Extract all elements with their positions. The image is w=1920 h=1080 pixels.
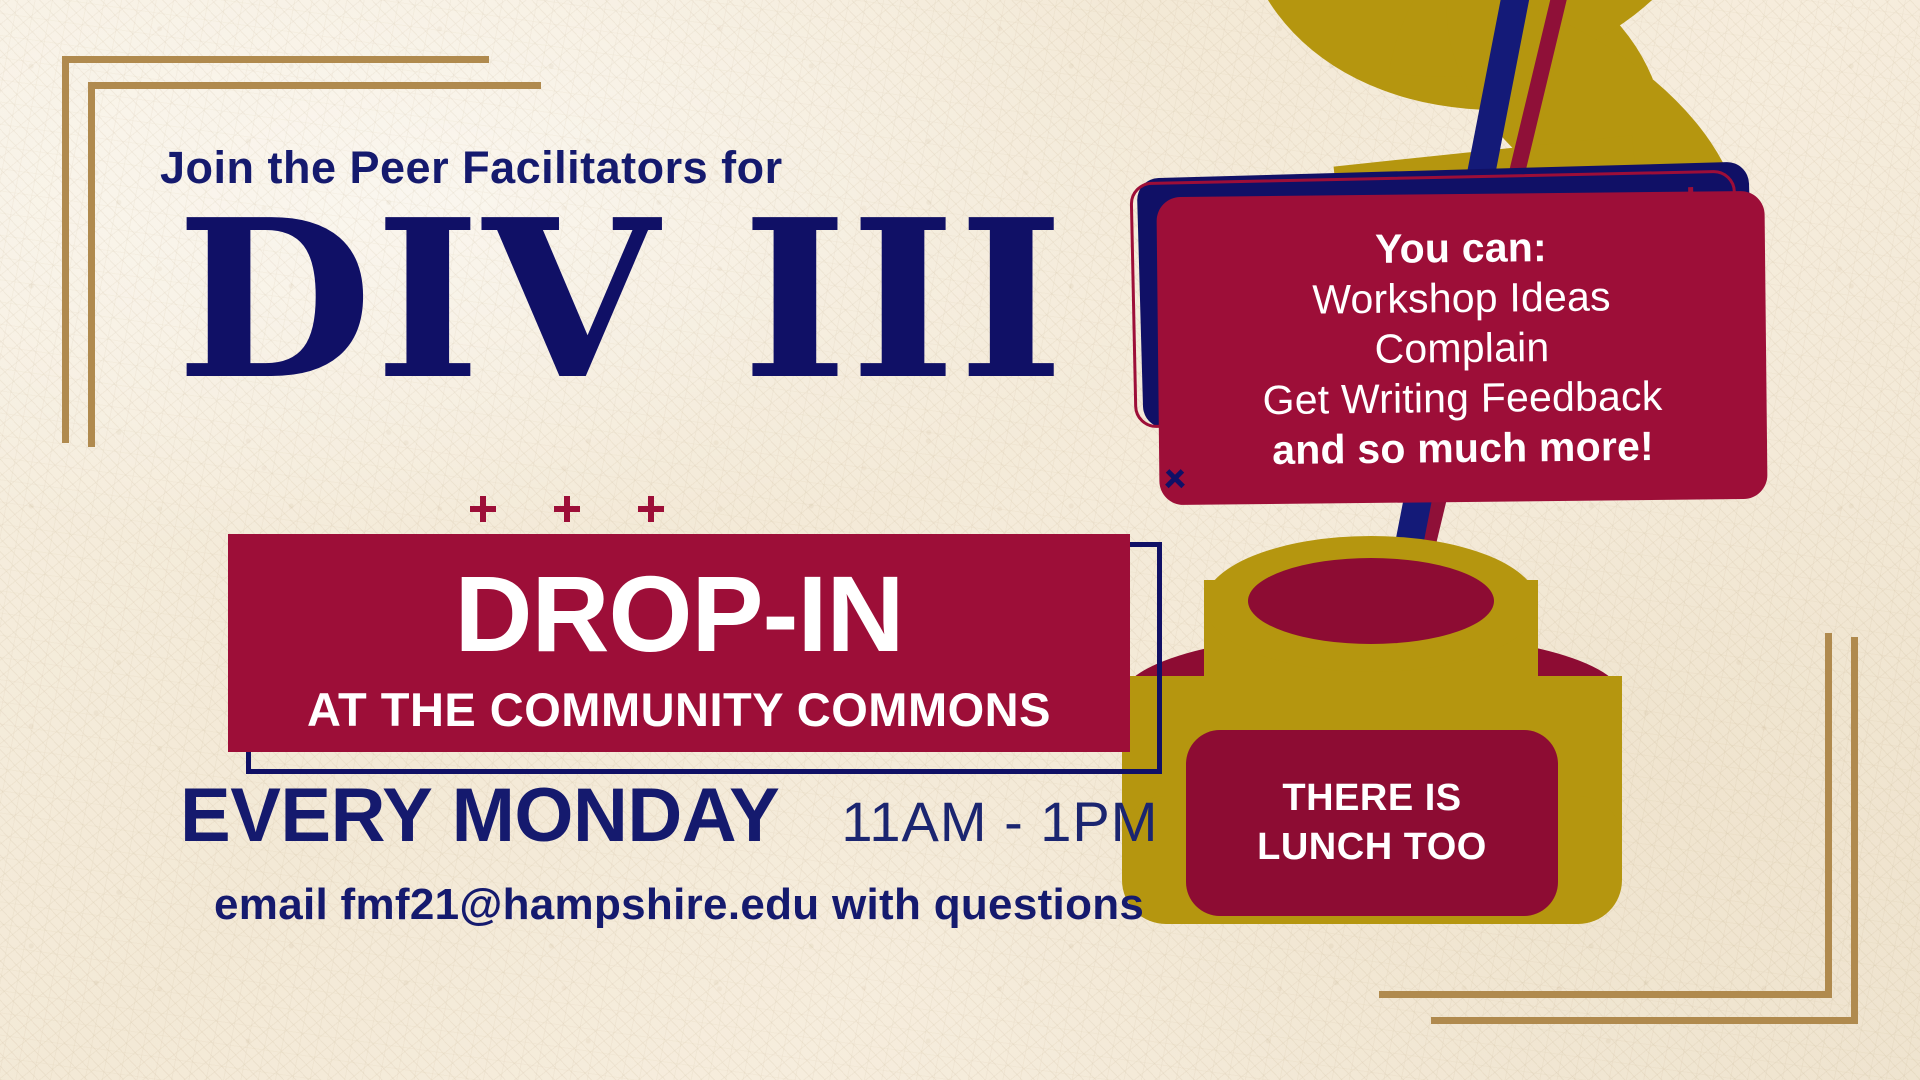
drop-in-label: DROP-IN	[228, 560, 1130, 668]
you-can-footer: and so much more!	[1272, 421, 1654, 475]
contact-line: email fmf21@hampshire.edu with questions	[214, 880, 1144, 930]
lunch-note-line-1: THERE IS	[1282, 777, 1461, 820]
plus-icon	[470, 496, 496, 522]
main-content-column: Join the Peer Facilitators for DIV III D…	[0, 0, 1180, 1080]
plus-icon	[554, 496, 580, 522]
schedule-day: EVERY MONDAY	[180, 778, 779, 854]
you-can-item-1: Complain	[1374, 322, 1549, 374]
drop-in-banner-fill: DROP-IN AT THE COMMUNITY COMMONS	[228, 534, 1130, 752]
quill-and-inkwell-illustration: THERE IS LUNCH TOO	[1120, 0, 1920, 1080]
drop-in-banner: DROP-IN AT THE COMMUNITY COMMONS	[228, 524, 1168, 774]
schedule-time: 11AM - 1PM	[841, 794, 1158, 850]
you-can-card: You can: Workshop Ideas Complain Get Wri…	[1156, 191, 1767, 505]
plus-icon	[638, 496, 664, 522]
inkwell-label: THERE IS LUNCH TOO	[1186, 730, 1558, 916]
you-can-heading: You can:	[1375, 222, 1547, 274]
lunch-note-line-2: LUNCH TOO	[1257, 826, 1487, 869]
schedule-row: EVERY MONDAY 11AM - 1PM	[180, 778, 1158, 854]
you-can-item-0: Workshop Ideas	[1312, 271, 1611, 324]
poster-canvas: THERE IS LUNCH TOO You can: Workshop Ide…	[0, 0, 1920, 1080]
you-can-item-2: Get Writing Feedback	[1262, 371, 1662, 425]
page-title: DIV III	[176, 196, 1066, 405]
inkwell-opening	[1248, 558, 1494, 644]
drop-in-location: AT THE COMMUNITY COMMONS	[228, 686, 1130, 733]
plus-decoration-row	[470, 496, 664, 522]
